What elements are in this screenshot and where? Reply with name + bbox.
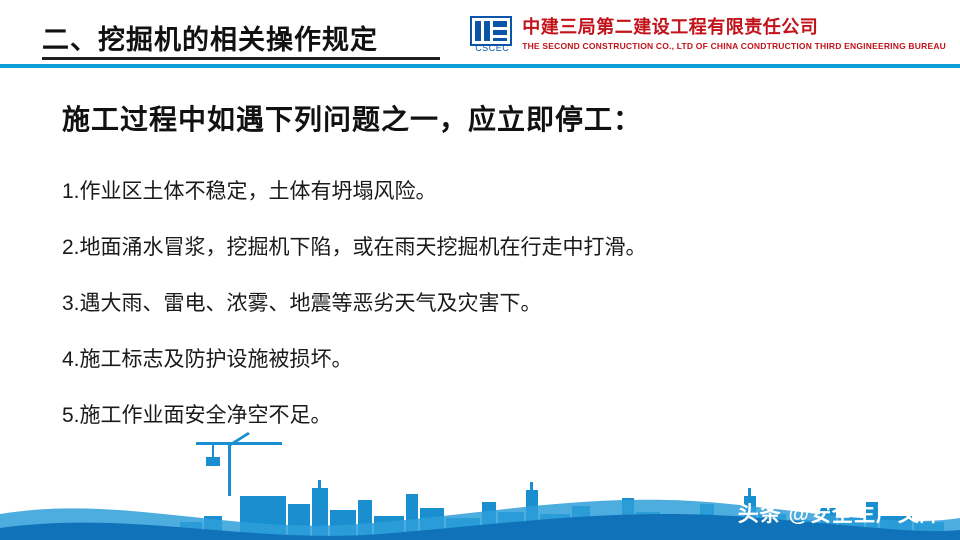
- company-branding: CSCEC 中建三局第二建设工程有限责任公司 THE SECOND CONSTR…: [470, 16, 946, 53]
- company-names: 中建三局第二建设工程有限责任公司 THE SECOND CONSTRUCTION…: [522, 16, 946, 53]
- list-item: 5.施工作业面安全净空不足。: [62, 402, 902, 430]
- list-item: 4.施工标志及防护设施被损坏。: [62, 346, 902, 374]
- page-title: 二、挖掘机的相关操作规定: [42, 18, 378, 57]
- cscec-logo-icon: CSCEC: [470, 16, 514, 52]
- list-item: 3.遇大雨、雷电、浓雾、地震等恶劣天气及灾害下。: [62, 290, 902, 318]
- title-underline-rule: [42, 57, 440, 60]
- logo-text: CSCEC: [470, 43, 514, 53]
- crane-icon: [196, 432, 282, 496]
- slide: 二、挖掘机的相关操作规定 CSCEC 中建三局第二建设工程有限责任公司 THE …: [0, 0, 960, 540]
- company-name-en: THE SECOND CONSTRUCTION CO., LTD OF CHIN…: [522, 40, 946, 53]
- header-accent-bar: [0, 64, 960, 68]
- rule-list: 1.作业区土体不稳定，土体有坍塌风险。 2.地面涌水冒浆，挖掘机下陷，或在雨天挖…: [62, 178, 902, 458]
- company-name-cn: 中建三局第二建设工程有限责任公司: [522, 16, 946, 38]
- slide-header: 二、挖掘机的相关操作规定 CSCEC 中建三局第二建设工程有限责任公司 THE …: [0, 0, 960, 68]
- list-item: 1.作业区土体不稳定，土体有坍塌风险。: [62, 178, 902, 206]
- section-subtitle: 施工过程中如遇下列问题之一，应立即停工：: [62, 98, 642, 138]
- list-item: 2.地面涌水冒浆，挖掘机下陷，或在雨天挖掘机在行走中打滑。: [62, 234, 902, 262]
- watermark-text: 头条 @安全生产文库: [738, 498, 942, 528]
- footer-skyline-graphic: 头条 @安全生产文库: [0, 430, 960, 540]
